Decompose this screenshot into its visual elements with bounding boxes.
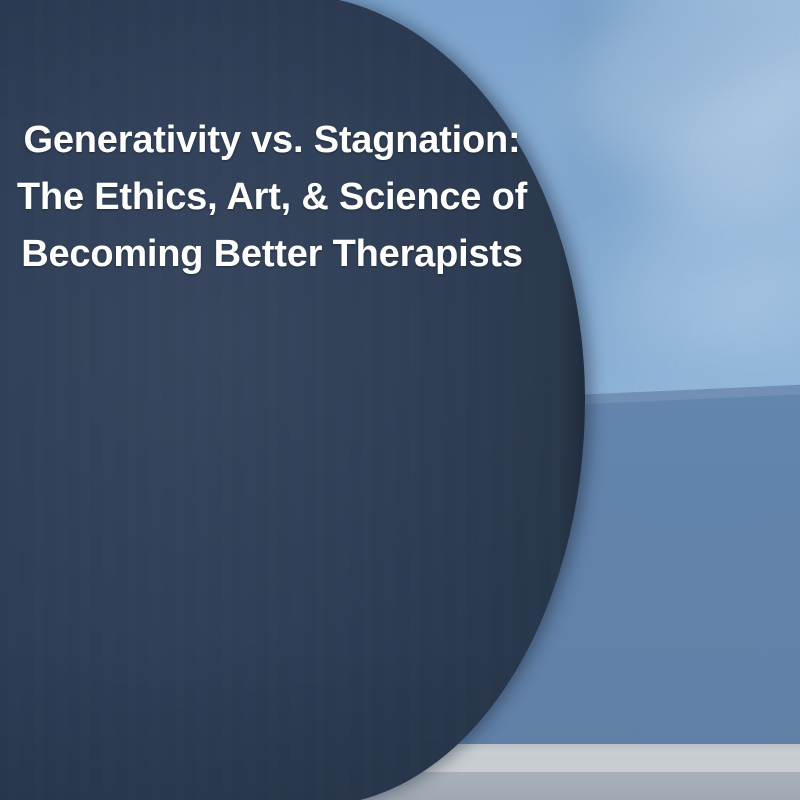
slide-title-line-1: Generativity vs. Stagnation: [0, 112, 622, 169]
virtual-room-scene: Generativity vs. Stagnation: The Ethics,… [0, 0, 800, 800]
slide-title: Generativity vs. Stagnation: The Ethics,… [0, 112, 622, 283]
slide-title-line-2: The Ethics, Art, & Science of [0, 169, 622, 226]
slide-title-line-3: Becoming Better Therapists [0, 226, 622, 283]
